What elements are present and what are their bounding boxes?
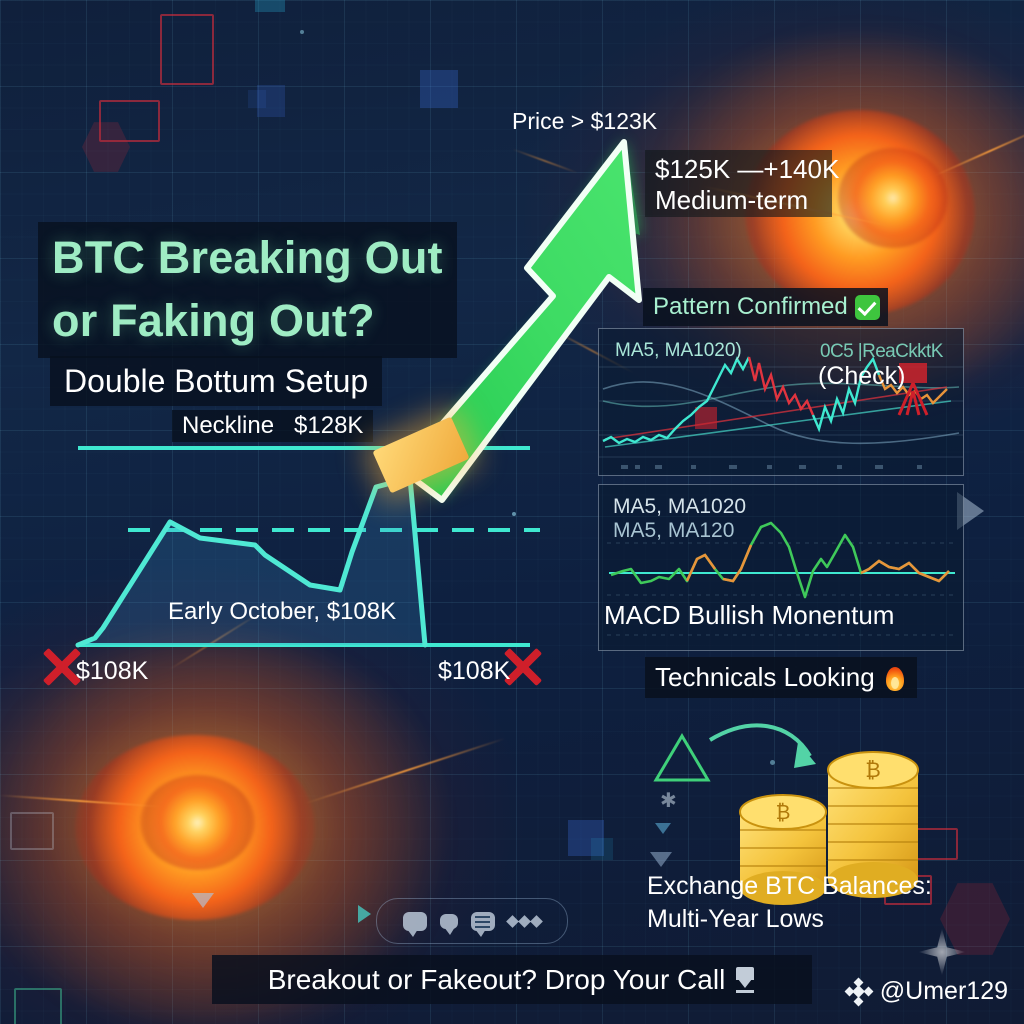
title-line-1: BTC Breaking Out	[52, 226, 443, 289]
decor-triangle-down	[655, 823, 671, 834]
more-dots-icon	[508, 917, 541, 926]
green-triangle-outline-icon	[652, 730, 722, 790]
down-arrow-emoji-icon	[734, 967, 756, 993]
target-horizon: Medium-term	[655, 185, 808, 216]
title-line-2: or Faking Out?	[52, 289, 443, 352]
decor-blue-square	[420, 70, 458, 108]
candlestick-garbled-note: 0C5 |ReaCkktK	[820, 341, 943, 363]
decor-triangle-down	[192, 893, 214, 908]
macd-legend-line-2: MA5, MA120	[613, 519, 734, 543]
technicals-label: Technicals Looking	[655, 662, 875, 693]
page-title: BTC Breaking Out or Faking Out?	[38, 222, 457, 358]
chat-icon-pill[interactable]	[376, 898, 568, 944]
svg-text:₿: ₿	[776, 800, 791, 824]
chat-bubble-icon	[403, 912, 427, 931]
pattern-confirmed-label: Pattern Confirmed	[653, 293, 848, 321]
asterisk-icon: ✱	[660, 788, 677, 813]
target-price-box: $125K —+140K Medium-term	[645, 150, 832, 217]
svg-text:₿: ₿	[865, 758, 881, 782]
chat-lines-icon	[471, 912, 495, 931]
early-october-label: Early October, $108K	[168, 598, 396, 626]
decor-dot	[512, 512, 516, 516]
pattern-confirmed-chip: Pattern Confirmed	[643, 288, 888, 326]
watermark-handle: @Umer129	[880, 977, 1008, 1006]
macd-legend-line-1: MA5, MA1020	[613, 495, 746, 519]
inflow-arrow-curve	[710, 725, 810, 756]
target-range: $125K —+140K	[655, 154, 839, 185]
decor-dot	[300, 30, 304, 34]
page-subtitle: Double Bottum Setup	[50, 356, 382, 406]
candlestick-check-label: (Check)	[818, 362, 906, 391]
technicals-chip: Technicals Looking	[645, 657, 917, 698]
decor-cyan-square	[255, 0, 285, 12]
bottom-right-price-label: $108K	[438, 657, 510, 686]
decor-red-rect	[10, 812, 54, 850]
fire-emoji-icon	[883, 664, 907, 692]
chat-bubble-small-icon	[440, 914, 458, 929]
neckline-label: Neckline $128K	[172, 410, 373, 442]
decor-blue-square	[248, 90, 266, 108]
cta-label: Breakout or Fakeout? Drop Your Call	[268, 964, 726, 996]
macd-caption: MACD Bullish Monentum	[604, 600, 894, 631]
watermark: @Umer129	[846, 977, 1008, 1006]
candlestick-legend: MA5, MA1020)	[615, 340, 742, 362]
infographic-canvas: Neckline $128K Early October, $108K $108…	[0, 0, 1024, 1024]
check-emoji-icon	[855, 295, 880, 320]
exchange-balances-caption: Exchange BTC Balances: Multi-Year Lows	[647, 870, 932, 936]
binance-logo-icon	[846, 979, 872, 1005]
bottom-left-price-label: $108K	[76, 657, 148, 686]
cta-banner[interactable]: Breakout or Fakeout? Drop Your Call	[212, 955, 812, 1004]
decor-triangle-right	[358, 905, 371, 923]
decor-triangle-down	[650, 852, 672, 867]
arrow-price-label: Price > $123K	[512, 108, 657, 135]
decor-red-rect	[14, 988, 62, 1024]
decor-cyan-square	[591, 838, 613, 860]
decor-red-rect	[160, 14, 214, 85]
